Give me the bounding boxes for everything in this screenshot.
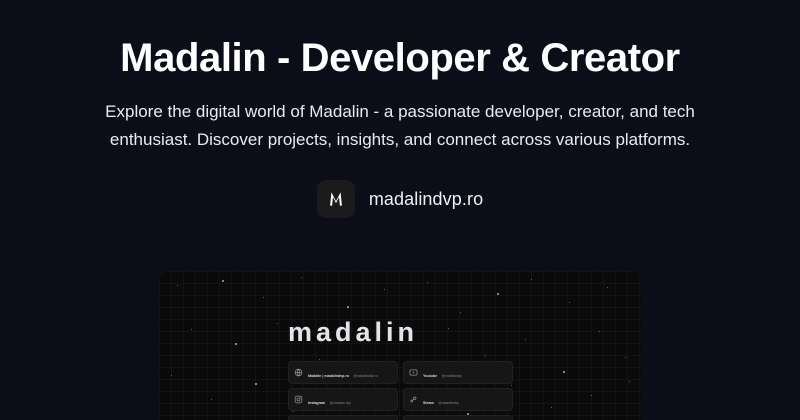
letter-m-logo-icon [317,180,355,218]
youtube-icon [409,368,418,377]
page-root: Madalin - Developer & Creator Explore th… [0,0,800,420]
list-item-handle: @madalin.dvp [330,401,352,405]
brand-domain-label: madalindvp.ro [369,188,483,210]
list-item[interactable] [403,415,513,420]
list-item-handle: @madalindvp [442,374,463,378]
hero-section: Madalin - Developer & Creator Explore th… [0,0,800,218]
list-item-handle: @madalindvp [438,401,459,405]
list-item[interactable]: Instagram @madalin.dvp [288,388,398,411]
list-item-title: Youtube [423,374,437,378]
brand-row[interactable]: madalindvp.ro [0,180,800,218]
preview-links-grid: Madalin | madalindvp.ro @madalindvp.ro Y… [288,361,513,420]
globe-icon [294,368,303,377]
list-item[interactable]: Madalin | madalindvp.ro @madalindvp.ro [288,361,398,384]
list-item-title: Instagram [308,401,325,405]
site-preview-card[interactable]: madalin Madalin | madalindvp.ro @madalin… [159,271,641,420]
page-title: Madalin - Developer & Creator [0,36,800,80]
preview-wordmark: madalin [288,317,641,347]
list-item[interactable]: Steam @madalindvp [403,388,513,411]
page-subtitle: Explore the digital world of Madalin - a… [64,98,736,154]
steam-icon [409,395,418,404]
list-item[interactable] [288,415,398,420]
preview-content: madalin Madalin | madalindvp.ro @madalin… [159,271,641,420]
list-item-title: Madalin | madalindvp.ro [308,374,349,378]
list-item[interactable]: Youtube @madalindvp [403,361,513,384]
list-item-title: Steam [423,401,434,405]
instagram-icon [294,395,303,404]
list-item-handle: @madalindvp.ro [353,374,378,378]
